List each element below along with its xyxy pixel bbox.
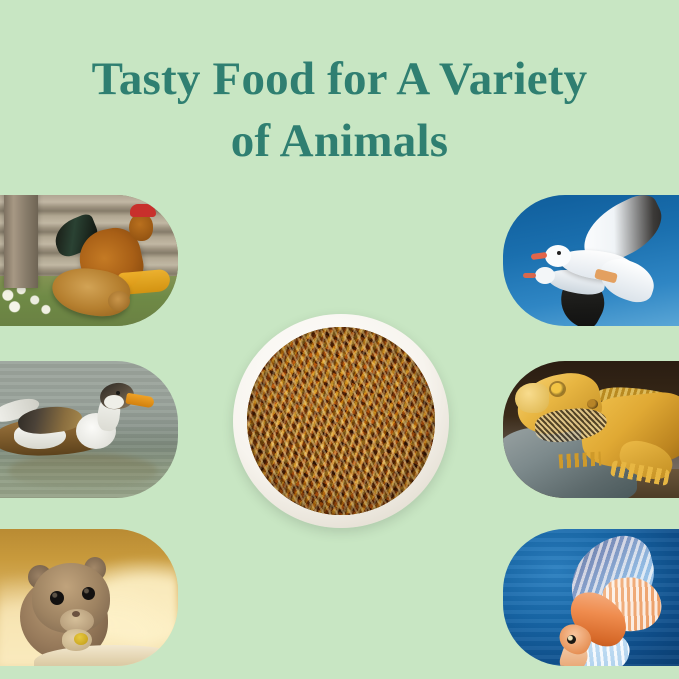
- chickens-image: [0, 195, 178, 326]
- daisy-flowers: [0, 283, 56, 317]
- second-gull-beak: [523, 273, 536, 278]
- rooster-head: [129, 213, 153, 241]
- dragon-rear-toes: [559, 452, 602, 469]
- hen-head: [108, 291, 130, 311]
- betta-fish-photo: [503, 529, 679, 666]
- hamster-eye-right: [82, 587, 95, 600]
- hamster-eye-left: [50, 591, 64, 605]
- duck-eye: [116, 391, 120, 395]
- rooster-comb: [130, 204, 156, 217]
- duck-water-reflection: [8, 453, 158, 489]
- dragon-eye-right: [587, 399, 598, 409]
- gull-eye: [557, 251, 561, 255]
- title-line-1: Tasty Food for A Variety: [0, 48, 679, 110]
- second-gull-head: [535, 267, 555, 284]
- bowl-contents: [247, 327, 435, 515]
- mealworm-bowl-photo: [233, 314, 449, 528]
- title-line-2: of Animals: [0, 110, 679, 172]
- bowl-inner-shadow: [247, 327, 435, 515]
- seagulls-image: [503, 195, 679, 326]
- food-piece: [74, 633, 88, 645]
- seagulls-photo: [503, 195, 679, 326]
- poster-canvas: Tasty Food for A Variety of Animals: [0, 0, 679, 679]
- duck-bill: [125, 393, 154, 409]
- hamster-nose: [72, 611, 80, 617]
- gull-head: [545, 245, 571, 267]
- hamster-image: [0, 529, 178, 666]
- dragon-snout: [515, 383, 549, 413]
- dragon-eye-left: [551, 383, 564, 395]
- duck-image: [0, 361, 178, 498]
- duck-photo: [0, 361, 178, 498]
- duck-cheek: [104, 395, 124, 409]
- bearded-dragon-photo: [503, 361, 679, 498]
- chickens-photo: [0, 195, 178, 326]
- betta-eye: [567, 635, 576, 644]
- hamster-photo: [0, 529, 178, 666]
- page-title: Tasty Food for A Variety of Animals: [0, 48, 679, 172]
- bearded-dragon-image: [503, 361, 679, 498]
- betta-fish-image: [503, 529, 679, 666]
